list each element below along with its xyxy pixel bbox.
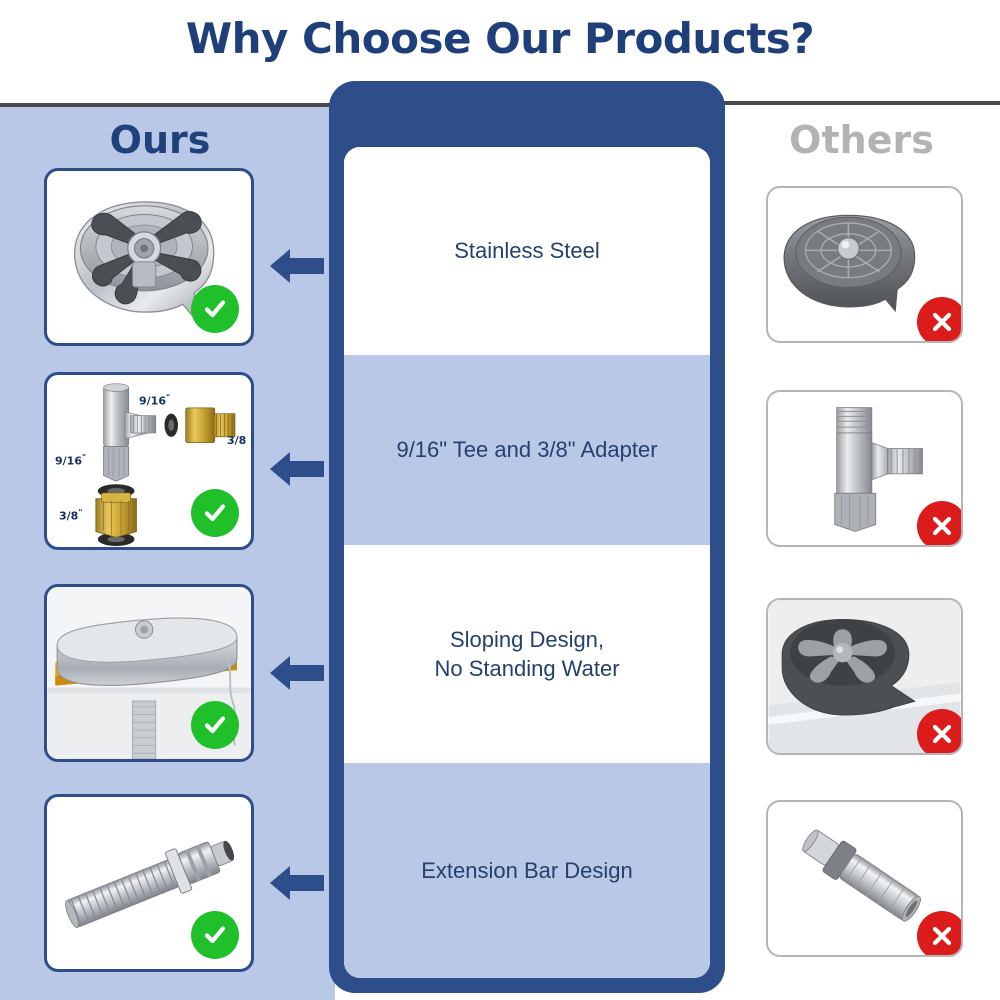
arrow-left-icon-1 [268,245,326,287]
check-icon [191,911,239,959]
cross-icon [917,297,963,343]
cross-icon [917,501,963,547]
feature-list-inner: Stainless Steel 9/16" Tee and 3/8" Adapt… [344,147,710,978]
dimension-label-tee-left: 9/16" [55,453,86,468]
feature-row-2: 9/16" Tee and 3/8" Adapter [344,355,710,545]
check-icon [191,701,239,749]
arrow-left-icon-4 [268,862,326,904]
others-product-card-3[interactable] [766,598,963,755]
arrow-left-icon-2 [268,448,326,490]
cross-icon [917,911,963,957]
ours-product-card-3[interactable] [44,584,254,762]
dimension-label-tee-top: 9/16" [139,393,170,408]
ours-column-heading: Ours [0,118,320,162]
dimension-label-adapter-bottom: 3/8" [59,508,83,523]
ours-product-card-4[interactable] [44,794,254,972]
feature-row-4: Extension Bar Design [344,763,710,978]
others-product-card-1[interactable] [766,186,963,343]
check-icon [191,285,239,333]
cross-icon [917,709,963,755]
feature-row-1: Stainless Steel [344,147,710,355]
page-title: Why Choose Our Products? [0,14,1000,63]
dimension-label-adapter-right: 3/8 [227,434,246,447]
feature-row-3: Sloping Design, No Standing Water [344,545,710,763]
arrow-left-icon-3 [268,652,326,694]
others-product-card-2[interactable] [766,390,963,547]
ours-product-card-2[interactable]: 9/16" 3/8 9/16" 3/8" [44,372,254,550]
others-column-heading: Others [723,118,1000,162]
others-product-card-4[interactable] [766,800,963,957]
others-column-divider [723,101,1000,105]
feature-list-card: Stainless Steel 9/16" Tee and 3/8" Adapt… [329,81,725,993]
check-icon [191,489,239,537]
ours-product-card-1[interactable] [44,168,254,346]
